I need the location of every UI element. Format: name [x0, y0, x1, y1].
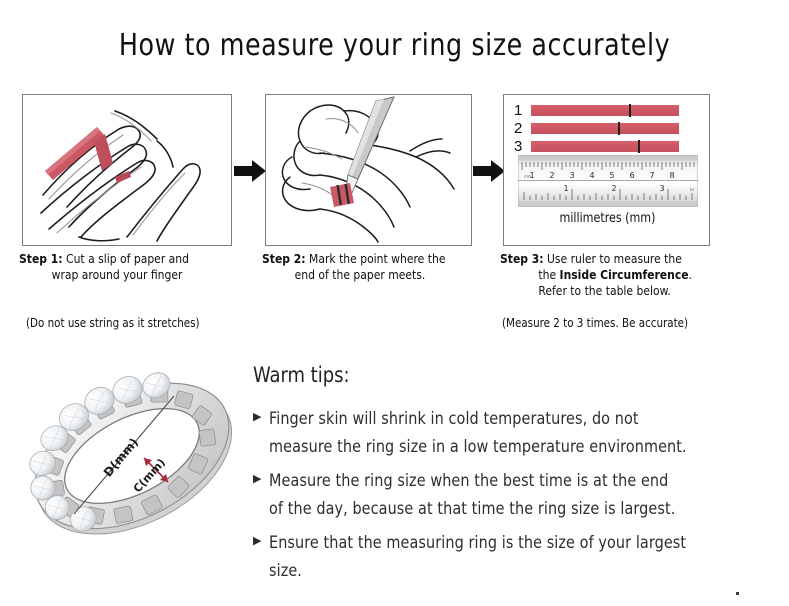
step-2-caption: Step 2: Mark the point where the end of …	[262, 251, 488, 283]
svg-text:8: 8	[669, 171, 674, 180]
step-1-note: (Do not use string as it stretches)	[26, 315, 200, 330]
step-2-line1: Mark the point where the	[309, 251, 445, 266]
step-3-line2-tail: .	[689, 267, 692, 282]
step-3-note: (Measure 2 to 3 times. Be accurate)	[502, 315, 688, 330]
flow-arrow-2-icon	[473, 158, 505, 184]
svg-text:5: 5	[609, 171, 614, 180]
hand-marking-paper-with-pen-icon	[266, 95, 471, 245]
warm-tips-heading: Warm tips:	[253, 363, 747, 387]
tip-text: Finger skin will shrink in cold temperat…	[269, 405, 687, 461]
tip-1-line2: measure the ring size in a low temperatu…	[269, 437, 687, 456]
tip-item: ▶ Ensure that the measuring ring is the …	[253, 529, 773, 585]
tip-3-line1: Ensure that the measuring ring is the si…	[269, 533, 686, 552]
svg-text:2: 2	[549, 171, 554, 180]
ruler-unit-label: millimetres (mm)	[509, 211, 706, 226]
strip-mark	[638, 140, 640, 153]
step-1-caption: Step 1: Cut a slip of paper and wrap aro…	[19, 251, 240, 283]
svg-text:in: in	[690, 187, 694, 193]
tip-2-line2: of the day, because at that time the rin…	[269, 499, 675, 518]
paper-strip	[531, 105, 679, 116]
svg-text:6: 6	[629, 171, 634, 180]
paper-strip	[531, 123, 679, 134]
svg-text:3: 3	[569, 171, 574, 180]
measured-strip-row: 2	[514, 121, 679, 136]
strip-number: 3	[514, 139, 525, 154]
eternity-ring-icon: D(mm) C(mm)	[16, 352, 248, 564]
tip-3-line2: size.	[269, 561, 302, 580]
ruler-icon: 123 456 78 cm	[518, 155, 698, 207]
infographic-page: How to measure your ring size accurately	[0, 0, 789, 606]
svg-text:4: 4	[589, 171, 594, 180]
tip-text: Ensure that the measuring ring is the si…	[269, 529, 686, 585]
page-title: How to measure your ring size accurately	[24, 28, 766, 63]
tip-item: ▶ Finger skin will shrink in cold temper…	[253, 405, 773, 461]
flow-arrow-1-icon	[234, 158, 266, 184]
step-1-illustration-panel	[22, 94, 232, 246]
bullet-triangle-icon: ▶	[253, 467, 269, 484]
svg-text:2: 2	[611, 184, 616, 193]
step-2-label: Step 2:	[262, 251, 306, 266]
step-1-line1: Cut a slip of paper and	[66, 251, 189, 266]
svg-text:3: 3	[659, 184, 664, 193]
step-3-line2-prefix: the	[538, 267, 559, 282]
step-3-line2: the Inside Circumference.	[500, 267, 740, 283]
step-3-label: Step 3:	[500, 251, 544, 266]
step-3-line3: Refer to the table below.	[500, 283, 740, 299]
tip-item: ▶ Measure the ring size when the best ti…	[253, 467, 773, 523]
tip-2-line1: Measure the ring size when the best time…	[269, 471, 668, 490]
inside-circumference-emphasis: Inside Circumference	[560, 267, 689, 282]
svg-text:cm: cm	[524, 175, 531, 180]
step-3-illustration-panel: 1 2 3	[503, 94, 710, 246]
step-3-line1: Use ruler to measure the	[547, 251, 682, 266]
paper-strip-shape	[330, 183, 354, 207]
step-2-illustration-panel	[265, 94, 472, 246]
tip-1-line1: Finger skin will shrink in cold temperat…	[269, 409, 639, 428]
strip-mark	[629, 104, 631, 117]
warm-tips-section: Warm tips: ▶ Finger skin will shrink in …	[253, 363, 773, 591]
measured-strip-row: 1	[514, 103, 679, 118]
paper-strip	[531, 141, 679, 152]
step-3-caption: Step 3: Use ruler to measure the the Ins…	[500, 251, 740, 299]
svg-text:1: 1	[563, 184, 568, 193]
strip-number: 1	[514, 103, 525, 118]
measured-strip-row: 3	[514, 139, 679, 154]
step-1-line2: wrap around your finger	[19, 267, 240, 283]
bullet-triangle-icon: ▶	[253, 529, 269, 546]
svg-text:7: 7	[649, 171, 654, 180]
hand-with-paper-strip-icon	[23, 95, 231, 245]
artifact-speck	[736, 592, 739, 595]
ring-diagram: D(mm) C(mm)	[16, 352, 248, 564]
step-1-label: Step 1:	[19, 251, 63, 266]
tip-text: Measure the ring size when the best time…	[269, 467, 675, 523]
bullet-triangle-icon: ▶	[253, 405, 269, 422]
strip-number: 2	[514, 121, 525, 136]
strip-mark	[618, 122, 620, 135]
step-2-line2: end of the paper meets.	[262, 267, 488, 283]
